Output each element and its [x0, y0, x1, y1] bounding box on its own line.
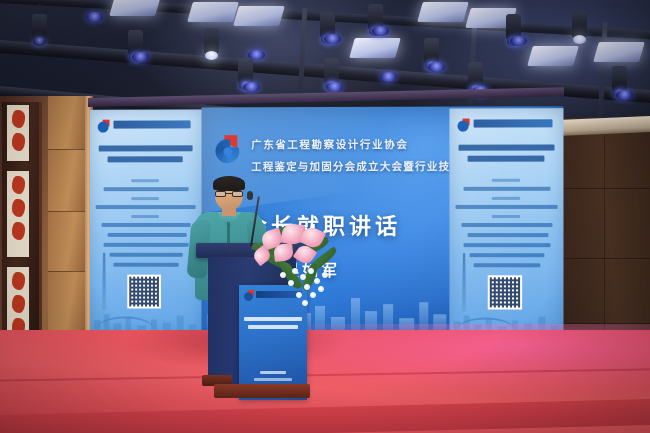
banner-field-label — [131, 179, 159, 182]
wall-seam — [604, 136, 605, 356]
spotlight-fixture — [324, 58, 339, 84]
banner-field-value — [474, 263, 541, 267]
lectern-panel-line1-text — [244, 317, 302, 321]
banner-field-value — [464, 187, 551, 191]
wall-plank — [48, 96, 88, 150]
led-par-light — [132, 52, 149, 62]
banner-field-value — [113, 263, 178, 267]
white-flower — [300, 274, 306, 280]
banner-field-value — [470, 253, 545, 257]
white-flower — [308, 268, 314, 274]
screen-organization-text: 广东省工程勘察设计行业协会 — [251, 137, 408, 152]
spotlight-fixture — [424, 38, 439, 64]
wall-plank — [48, 150, 88, 212]
banner-field-label — [492, 197, 520, 200]
left-standee-banner — [90, 109, 202, 334]
left-wall-paneling — [0, 96, 88, 358]
decorative-motif — [6, 170, 30, 258]
wash-panel-light — [417, 2, 469, 22]
banner-subheading-text — [99, 145, 193, 151]
spotlight-fixture — [572, 12, 587, 38]
microphone-icon — [247, 191, 253, 200]
wash-panel-light — [233, 6, 285, 26]
banner-subheading-text — [458, 144, 554, 150]
association-logo-icon — [98, 120, 111, 133]
led-par-light — [510, 36, 527, 46]
presenter-hair — [213, 176, 245, 191]
led-par-light — [86, 12, 103, 22]
white-flower — [302, 300, 308, 306]
white-flower — [288, 280, 294, 286]
lectern-panel-date-text — [260, 371, 286, 374]
event-photograph: 广东省工程勘察设计行业协会 工程鉴定与加固分会成立大会暨行业技术创新交流会 会长… — [0, 0, 650, 433]
banner-heading-text — [474, 119, 553, 127]
spotlight-fixture — [204, 28, 219, 54]
association-logo-icon — [215, 135, 243, 163]
banner-field-value — [104, 187, 189, 191]
led-par-light — [243, 82, 260, 92]
white-flower — [318, 286, 324, 292]
banner-field-value — [108, 233, 187, 237]
wash-panel-light — [349, 38, 401, 58]
white-flower — [280, 272, 286, 278]
wash-panel-light — [527, 46, 579, 66]
eyeglasses-icon — [215, 191, 243, 197]
banner-field-value — [468, 233, 549, 237]
wash-panel-light — [187, 2, 239, 22]
led-par-light — [380, 72, 397, 82]
podium-flower-arrangement — [252, 222, 344, 312]
association-logo-icon — [457, 119, 470, 132]
white-flower — [314, 278, 320, 284]
banner-subheading-text — [468, 156, 545, 162]
lectern-panel-venue-text — [254, 378, 292, 381]
spotlight-fixture — [32, 14, 47, 40]
white-flower — [292, 268, 298, 274]
spotlight-fixture — [468, 62, 483, 88]
banner-heading-text — [113, 120, 190, 128]
lectern-base — [214, 384, 310, 398]
led-par-light — [324, 34, 341, 44]
banner-subheading-text — [108, 156, 183, 162]
right-wall-paneling — [558, 118, 650, 358]
lectern-panel-line2-text — [248, 325, 298, 329]
skyline-graphic — [90, 294, 202, 334]
stage-front-edge — [0, 399, 650, 433]
lily-flower — [273, 243, 294, 262]
banner-field-value — [96, 205, 196, 209]
wall-plank — [48, 212, 88, 272]
led-par-light — [326, 82, 343, 92]
white-flower — [296, 292, 302, 298]
wall-plank — [48, 272, 88, 332]
spotlight-fixture — [612, 66, 627, 92]
banner-field-label — [131, 197, 159, 200]
banner-field-value — [110, 253, 183, 257]
banner-field-value — [102, 223, 191, 227]
banner-field-value — [462, 223, 553, 227]
banner-field-value — [104, 243, 189, 247]
led-par-light — [372, 26, 389, 36]
white-flower — [322, 272, 328, 278]
banner-field-label — [492, 179, 520, 182]
wash-panel-light — [109, 0, 161, 16]
wall-ledge — [552, 116, 650, 137]
right-standee-banner — [449, 108, 563, 336]
led-par-light — [428, 62, 445, 72]
banner-field-label — [492, 215, 520, 218]
white-flower — [304, 284, 310, 290]
white-flower — [310, 292, 316, 298]
led-par-light — [616, 90, 633, 100]
banner-field-label — [131, 215, 159, 218]
banner-field-value — [464, 243, 551, 247]
spotlight-fixture — [238, 58, 253, 84]
presenter-shirt-placket — [227, 222, 230, 244]
banner-field-value — [455, 205, 557, 209]
decorative-motif — [6, 104, 30, 162]
wash-panel-light — [593, 42, 645, 62]
